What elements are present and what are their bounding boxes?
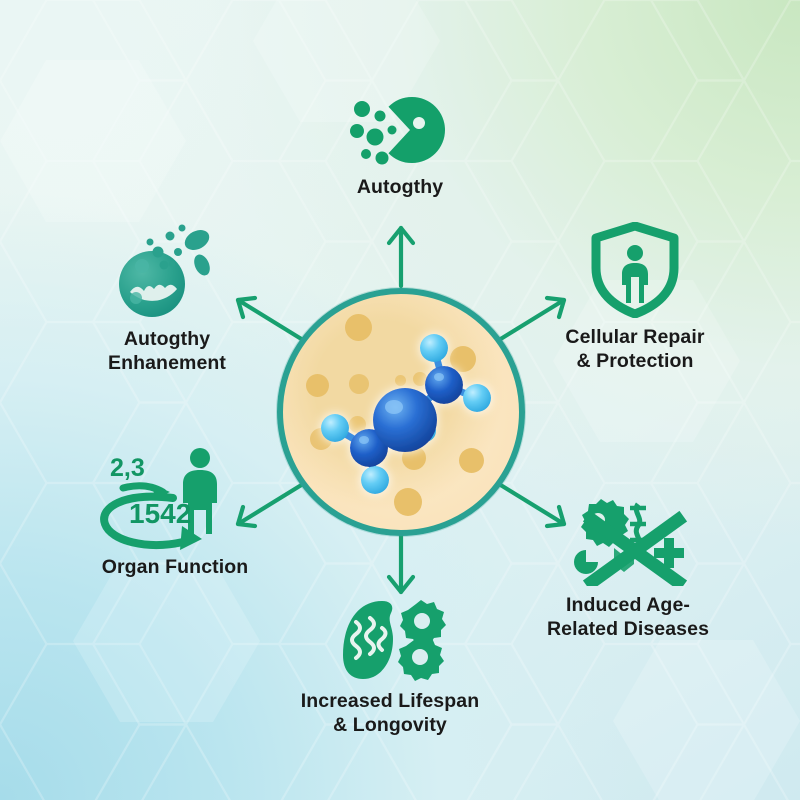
node-age-related-diseases[interactable]: Induced Age- Related Diseases [528, 498, 728, 642]
node-autophagy-enhancement-label: Autogthy Enhanement [67, 328, 267, 376]
organ-value-big: 1542 [129, 498, 191, 530]
label-line-1: Cellular Repair [565, 326, 704, 348]
organ-value-small: 2,3 [110, 454, 145, 483]
label-line-1: Autogthy [357, 176, 443, 198]
node-autophagy[interactable]: Autogthy [300, 92, 500, 200]
infographic-canvas: Autogthy [0, 0, 800, 800]
node-increased-lifespan-label: Increased Lifespan & Longovity [290, 690, 490, 738]
organ-gears-icon [330, 598, 450, 682]
node-cellular-repair[interactable]: Cellular Repair & Protection [535, 222, 735, 374]
cell-breakdown-icon [112, 222, 222, 320]
label-line-2: Related Diseases [528, 618, 728, 642]
label-line-1: Autogthy [124, 328, 210, 350]
node-autophagy-label: Autogthy [300, 176, 500, 200]
organ-function-graphic: 2,3 1542 [75, 440, 275, 560]
node-increased-lifespan[interactable]: Increased Lifespan & Longovity [290, 598, 490, 738]
central-cell [277, 288, 525, 536]
label-line-1: Increased Lifespan [301, 690, 479, 712]
node-cellular-repair-label: Cellular Repair & Protection [535, 326, 735, 374]
node-organ-function[interactable]: 2,3 1542 Organ Function [75, 440, 275, 580]
arrow-down [389, 536, 413, 592]
molecule [277, 288, 525, 536]
label-line-2: & Longovity [290, 714, 490, 738]
node-autophagy-enhancement[interactable]: Autogthy Enhanement [67, 222, 267, 376]
shield-person-icon [588, 222, 682, 318]
crossed-out-disease-icon [566, 498, 690, 586]
label-line-2: Enhanement [67, 352, 267, 376]
autophagy-cell-icon [348, 92, 452, 168]
node-age-related-diseases-label: Induced Age- Related Diseases [528, 594, 728, 642]
label-line-2: & Protection [535, 350, 735, 374]
label-line-1: Induced Age- [566, 594, 690, 616]
arrow-up [389, 228, 413, 286]
